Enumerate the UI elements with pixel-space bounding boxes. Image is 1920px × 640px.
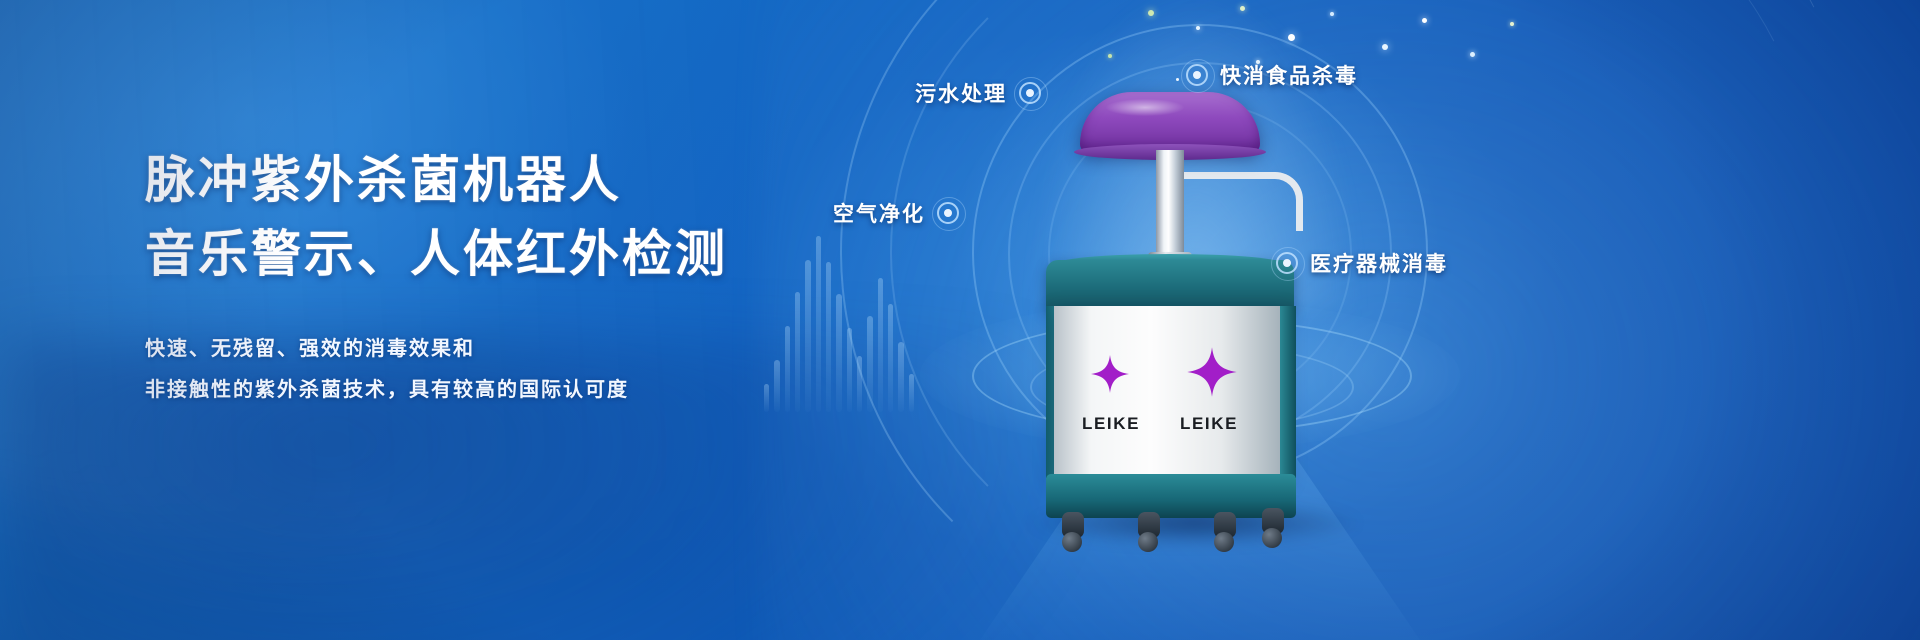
vignette-overlay [0,0,1920,640]
promo-banner: 脉冲紫外杀菌机器人 音乐警示、人体红外检测 快速、无残留、强效的消毒效果和 非接… [0,0,1920,640]
